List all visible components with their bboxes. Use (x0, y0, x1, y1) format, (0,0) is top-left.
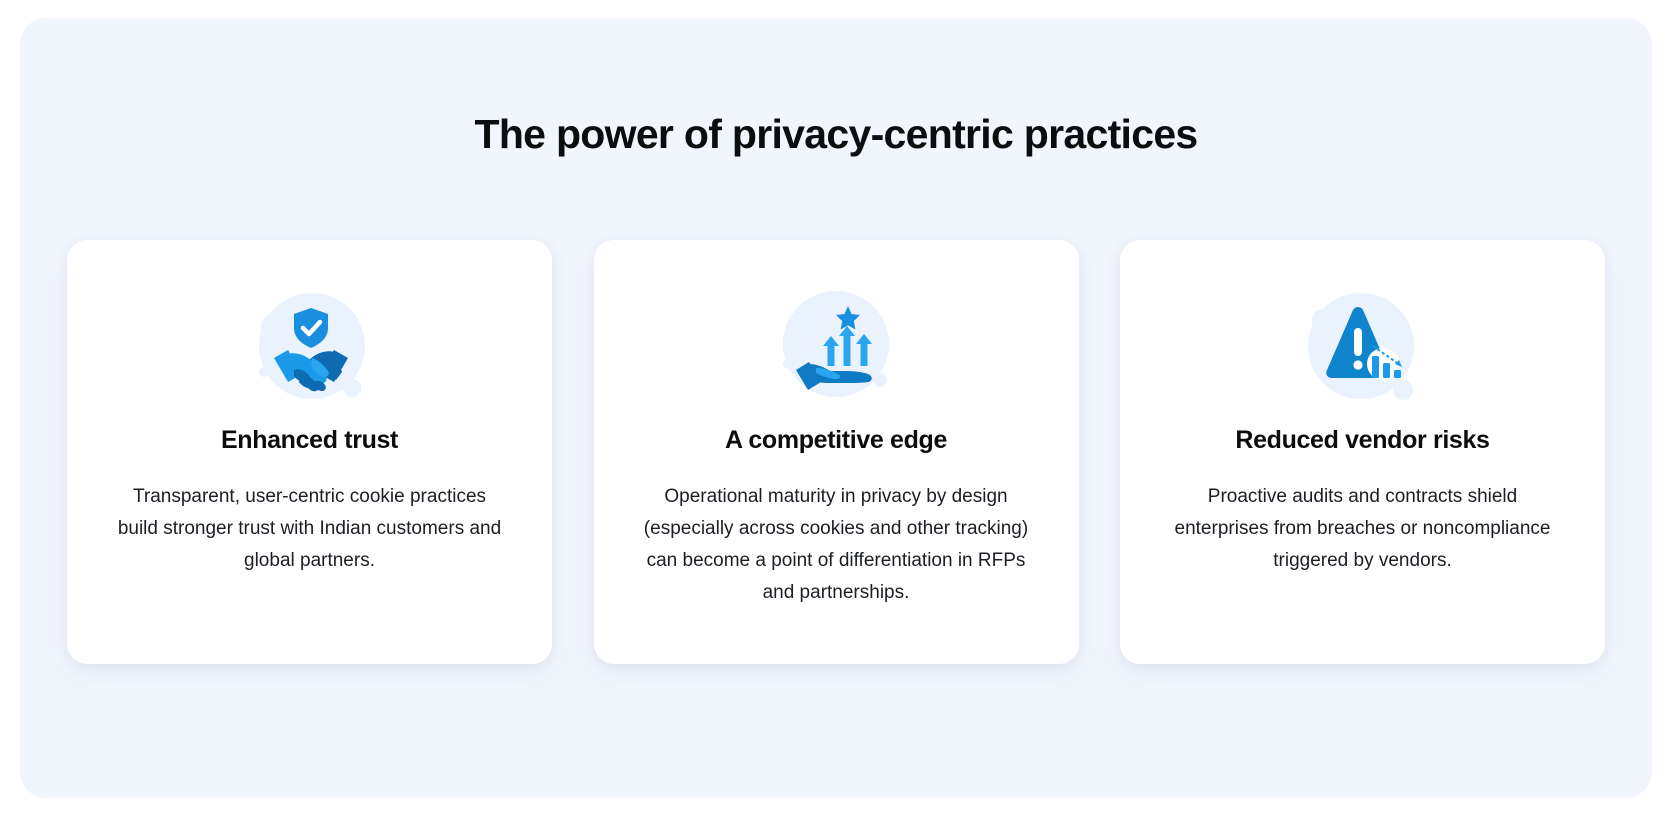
content-panel: The power of privacy-centric practices (20, 18, 1652, 798)
hand-growth-arrows-star-icon (776, 284, 896, 404)
warning-declining-chart-icon (1303, 284, 1423, 404)
handshake-shield-icon (250, 284, 370, 404)
feature-card-enhanced-trust: Enhanced trust Transparent, user-centric… (67, 240, 552, 664)
feature-card-reduced-vendor-risks: Reduced vendor risks Proactive audits an… (1120, 240, 1605, 664)
card-body: Transparent, user-centric cookie practic… (114, 481, 506, 577)
card-grid: Enhanced trust Transparent, user-centric… (67, 240, 1605, 664)
card-title: Reduced vendor risks (1235, 426, 1489, 455)
page-title: The power of privacy-centric practices (20, 110, 1652, 159)
card-title: Enhanced trust (221, 426, 398, 455)
feature-card-competitive-edge: A competitive edge Operational maturity … (594, 240, 1079, 664)
card-title: A competitive edge (725, 426, 947, 455)
card-body: Proactive audits and contracts shield en… (1167, 481, 1559, 577)
card-body: Operational maturity in privacy by desig… (636, 481, 1036, 609)
